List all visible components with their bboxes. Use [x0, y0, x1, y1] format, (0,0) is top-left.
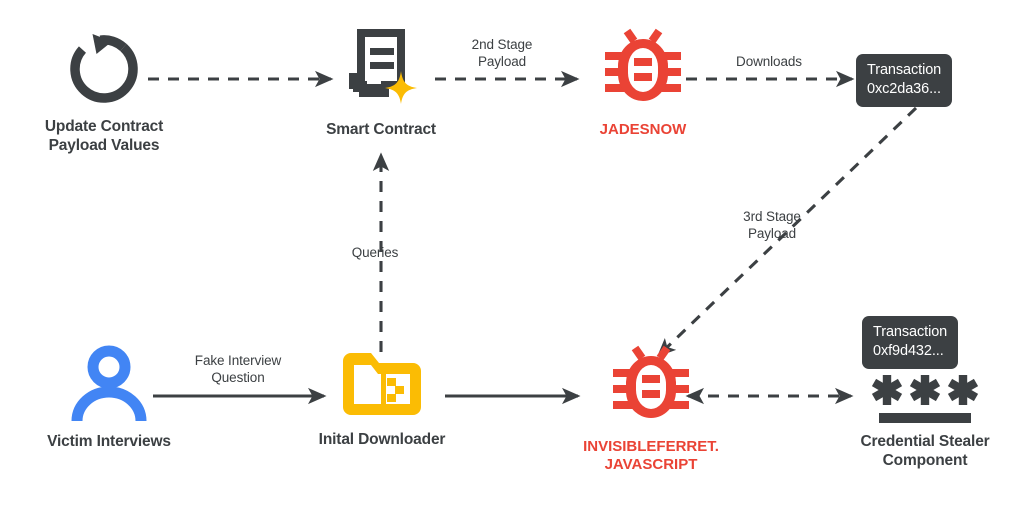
node-label-credential-stealer: Credential Stealer Component [860, 433, 989, 471]
edge-label-queries: Queries [335, 244, 415, 261]
node-inital-downloader[interactable]: Inital Downloader [311, 345, 453, 450]
node-label-jadesnow: JADESNOW [600, 121, 687, 139]
node-label-smart-contract: Smart Contract [326, 121, 436, 140]
node-update-contract[interactable]: Update Contract Payload Values [36, 30, 172, 156]
node-label-inital-downloader: Inital Downloader [319, 431, 446, 450]
person-icon [70, 345, 148, 423]
edge-label-3rd-stage-payload: 3rd Stage Payload [711, 208, 833, 243]
node-jadesnow[interactable]: JADESNOW [577, 27, 709, 139]
edge-label-fake-interview-question: Fake Interview Question [166, 352, 310, 387]
edge-label-2nd-stage-payload: 2nd Stage Payload [443, 36, 561, 71]
bug-icon [608, 344, 694, 428]
edge-label-downloads: Downloads [700, 53, 838, 70]
bug-icon [600, 27, 686, 111]
refresh-circular-arrow-icon [65, 30, 143, 108]
node-invisibleferret[interactable]: INVISIBLEFERRET. JAVASCRIPT [577, 344, 725, 475]
chip-transaction-c2da36[interactable]: Transaction 0xc2da36... [856, 54, 952, 107]
password-asterisks-icon [869, 375, 981, 423]
contract-document-sparkle-icon [339, 27, 423, 111]
node-label-update-contract: Update Contract Payload Values [45, 118, 163, 156]
node-credential-stealer[interactable]: Credential Stealer Component [855, 375, 995, 471]
chip-transaction-f9d432[interactable]: Transaction 0xf9d432... [862, 316, 958, 369]
node-label-invisibleferret: INVISIBLEFERRET. JAVASCRIPT [583, 438, 719, 475]
folder-code-icon [337, 345, 427, 421]
node-victim-interviews[interactable]: Victim Interviews [39, 345, 179, 452]
node-label-victim-interviews: Victim Interviews [47, 433, 171, 452]
diagram-canvas: 2nd Stage Payload Downloads 3rd Stage Pa… [0, 0, 1024, 511]
node-smart-contract[interactable]: Smart Contract [313, 27, 449, 140]
